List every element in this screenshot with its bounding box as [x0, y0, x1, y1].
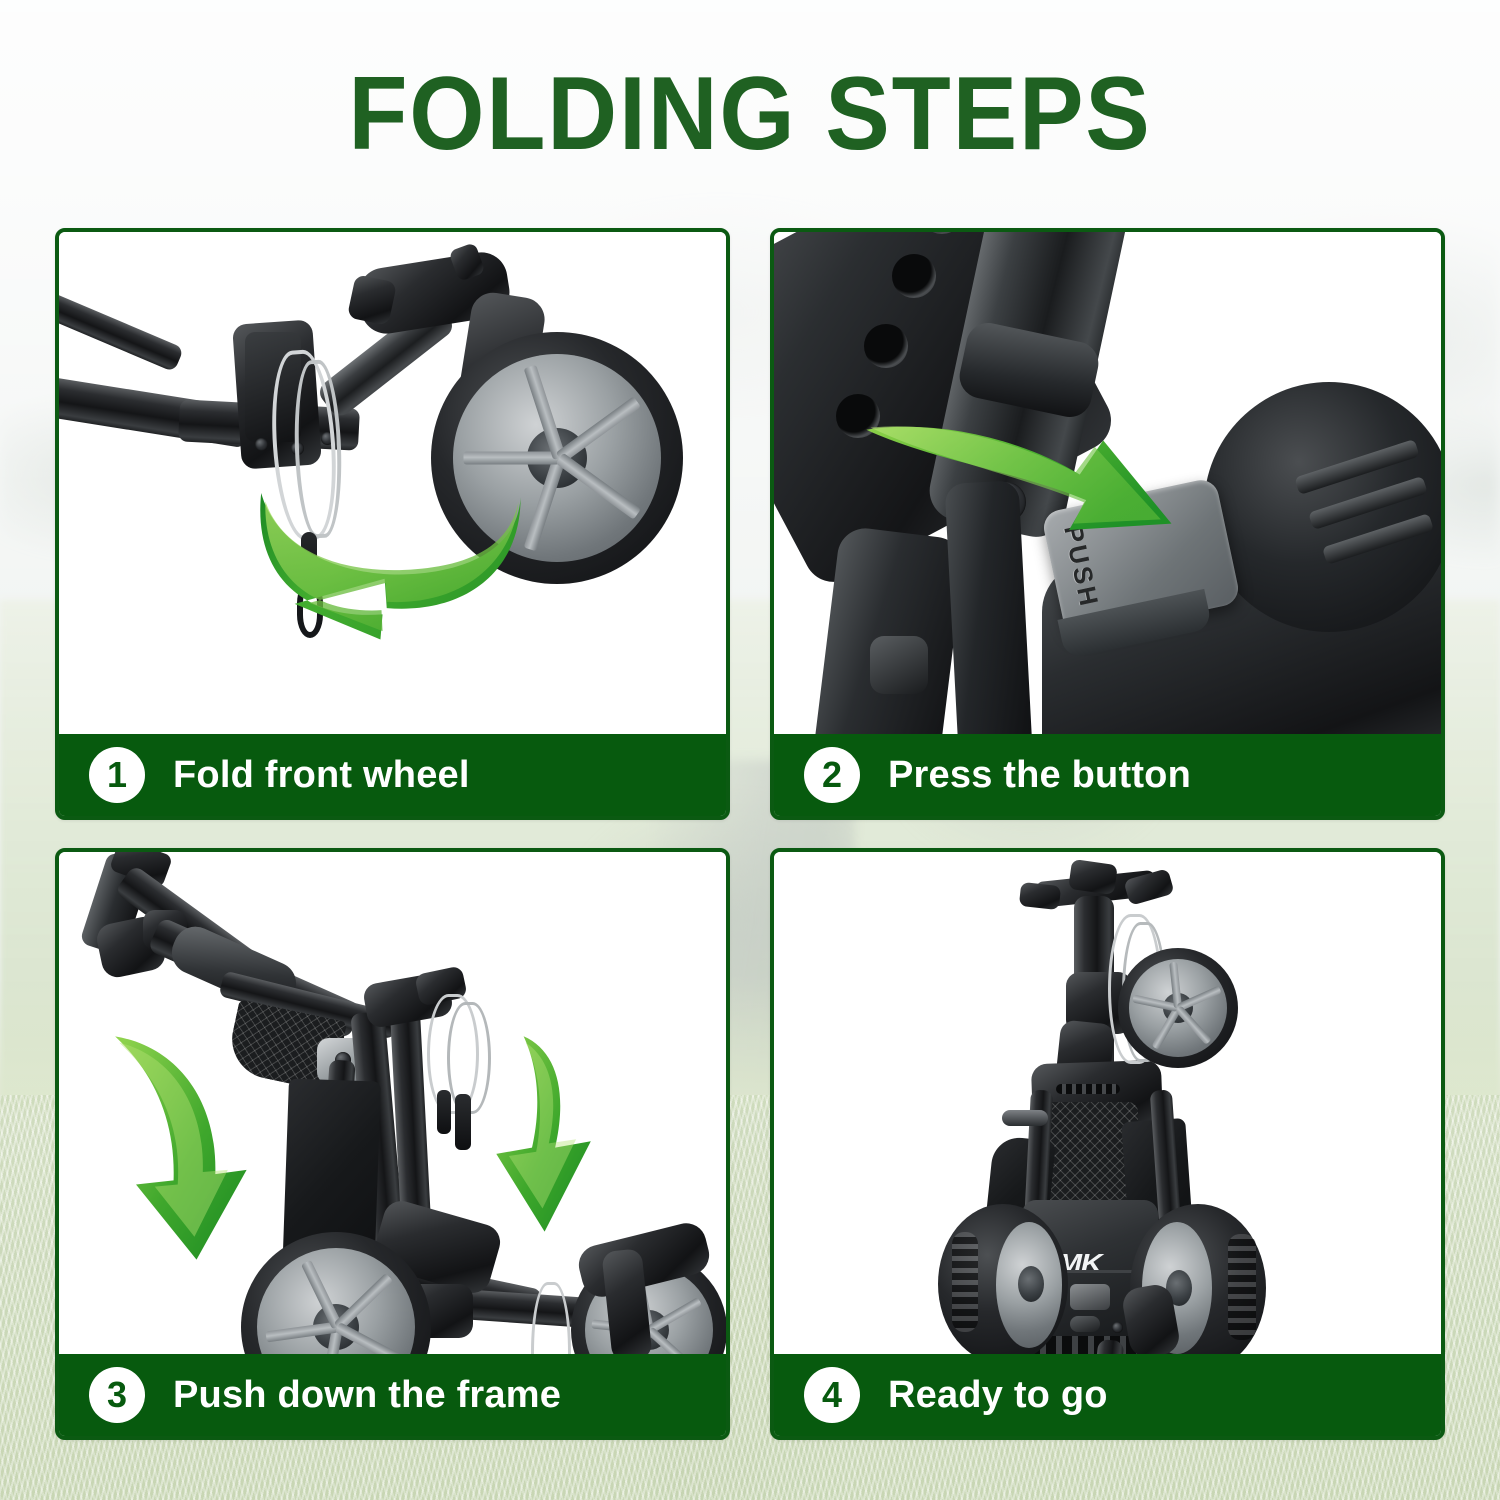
spoke — [464, 452, 560, 465]
step-caption-text: Fold front wheel — [173, 754, 470, 797]
step-number-badge: 3 — [89, 1367, 145, 1423]
step-3-photo — [59, 852, 726, 1354]
leg-clip — [870, 636, 928, 694]
page-title: FOLDING STEPS — [53, 62, 1448, 166]
bracket-vents — [1056, 1084, 1120, 1094]
steps-grid: 1 Fold front wheel — [55, 228, 1445, 1440]
frame-tube-upper-left — [59, 290, 184, 373]
frame-hole — [892, 254, 936, 298]
folded-wheel-left — [938, 1204, 1068, 1354]
push-down-arrow-left — [99, 1028, 269, 1268]
step-number-badge: 1 — [89, 747, 145, 803]
step-caption-text: Push down the frame — [173, 1374, 561, 1417]
step-number-badge: 4 — [804, 1367, 860, 1423]
tyre-tread — [952, 1232, 978, 1332]
step-panel-1: 1 Fold front wheel — [55, 228, 730, 820]
handle-tab-2 — [1019, 882, 1061, 910]
step-2-caption-bar: 2 Press the button — [774, 734, 1441, 816]
step-1-caption-bar: 1 Fold front wheel — [59, 734, 726, 816]
press-direction-arrow — [860, 412, 1180, 552]
step-panel-2: PUSH — [770, 228, 1445, 820]
tyre-tread — [1228, 1234, 1256, 1340]
cable-tab-2 — [455, 1094, 471, 1150]
handle-grip — [1068, 859, 1118, 895]
fold-direction-arrow — [257, 482, 529, 640]
step-panel-4: MK — [770, 848, 1445, 1440]
screw-icon — [1112, 1322, 1123, 1333]
hub — [1018, 1266, 1044, 1302]
cable-tab — [437, 1090, 451, 1134]
step-number-badge: 2 — [804, 747, 860, 803]
step-1-photo — [59, 232, 726, 734]
plate-badge — [1070, 1316, 1100, 1332]
folded-rear-wheel — [1118, 948, 1238, 1068]
push-down-arrow-right — [489, 1030, 617, 1240]
step-caption-text: Press the button — [888, 754, 1191, 797]
step-4-photo: MK — [774, 852, 1441, 1354]
step-2-photo: PUSH — [774, 232, 1441, 734]
latch-clip — [1070, 1284, 1110, 1310]
step-3-caption-bar: 3 Push down the frame — [59, 1354, 726, 1436]
screw-icon — [255, 438, 268, 451]
step-panel-3: 3 Push down the frame — [55, 848, 730, 1440]
step-caption-text: Ready to go — [888, 1374, 1108, 1417]
infographic-page: FOLDING STEPS — [0, 0, 1500, 1500]
quick-release-pin — [1002, 1110, 1048, 1126]
frame-hole — [864, 324, 908, 368]
step-4-caption-bar: 4 Ready to go — [774, 1354, 1441, 1436]
